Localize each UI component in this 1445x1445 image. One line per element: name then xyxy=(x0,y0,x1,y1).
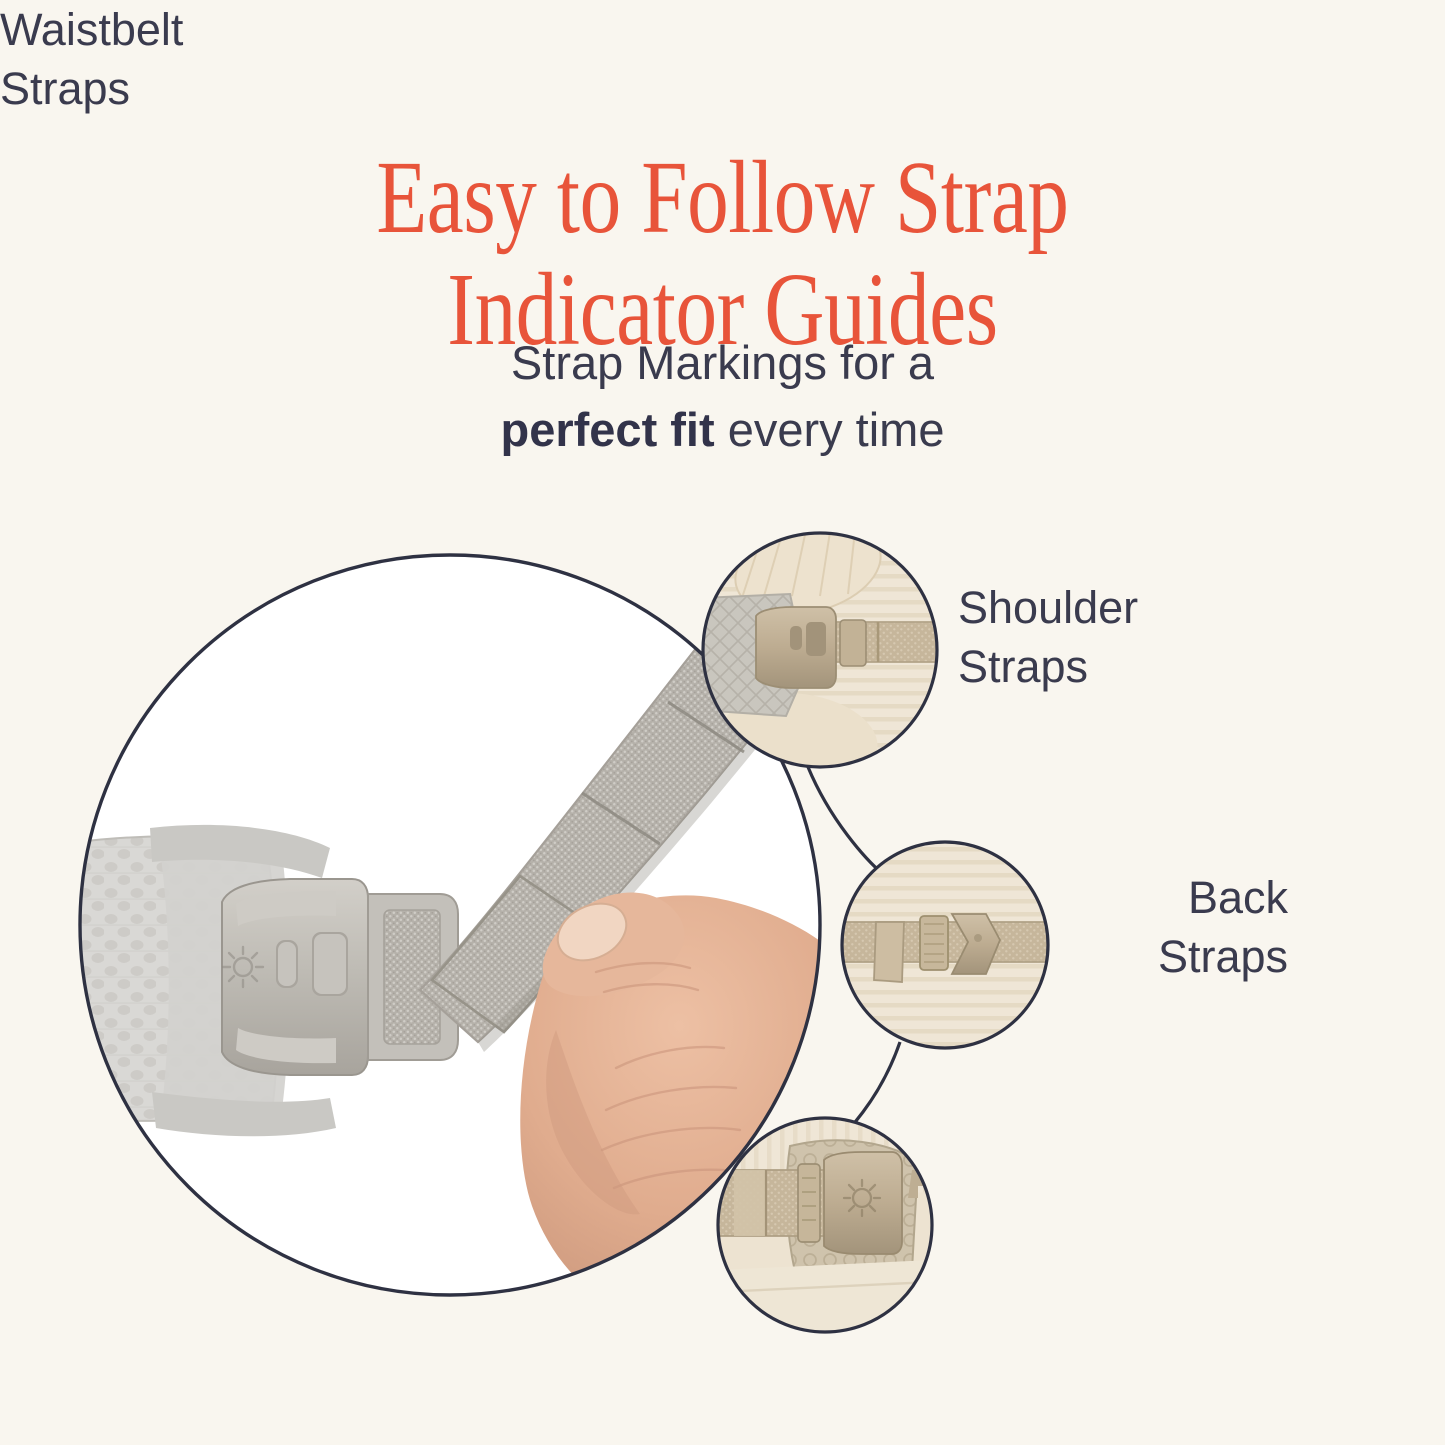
subtitle-line-2-rest: every time xyxy=(715,403,945,456)
callout-label-waistbelt: Waistbelt Straps xyxy=(0,0,183,119)
waistbelt-buckle xyxy=(222,879,458,1075)
callout-label-shoulder: Shoulder Straps xyxy=(958,578,1138,697)
subtitle-line-2: perfect fit every time xyxy=(0,397,1445,464)
subtitle: Strap Markings for a perfect fit every t… xyxy=(0,330,1445,463)
infographic-root: Easy to Follow Strap Indicator Guides St… xyxy=(0,0,1445,1445)
inset-circle-back xyxy=(830,842,1070,1048)
subtitle-line-1: Strap Markings for a xyxy=(0,330,1445,397)
callout-label-back: Back Straps xyxy=(1158,868,1288,987)
subtitle-emphasis: perfect fit xyxy=(501,403,715,456)
